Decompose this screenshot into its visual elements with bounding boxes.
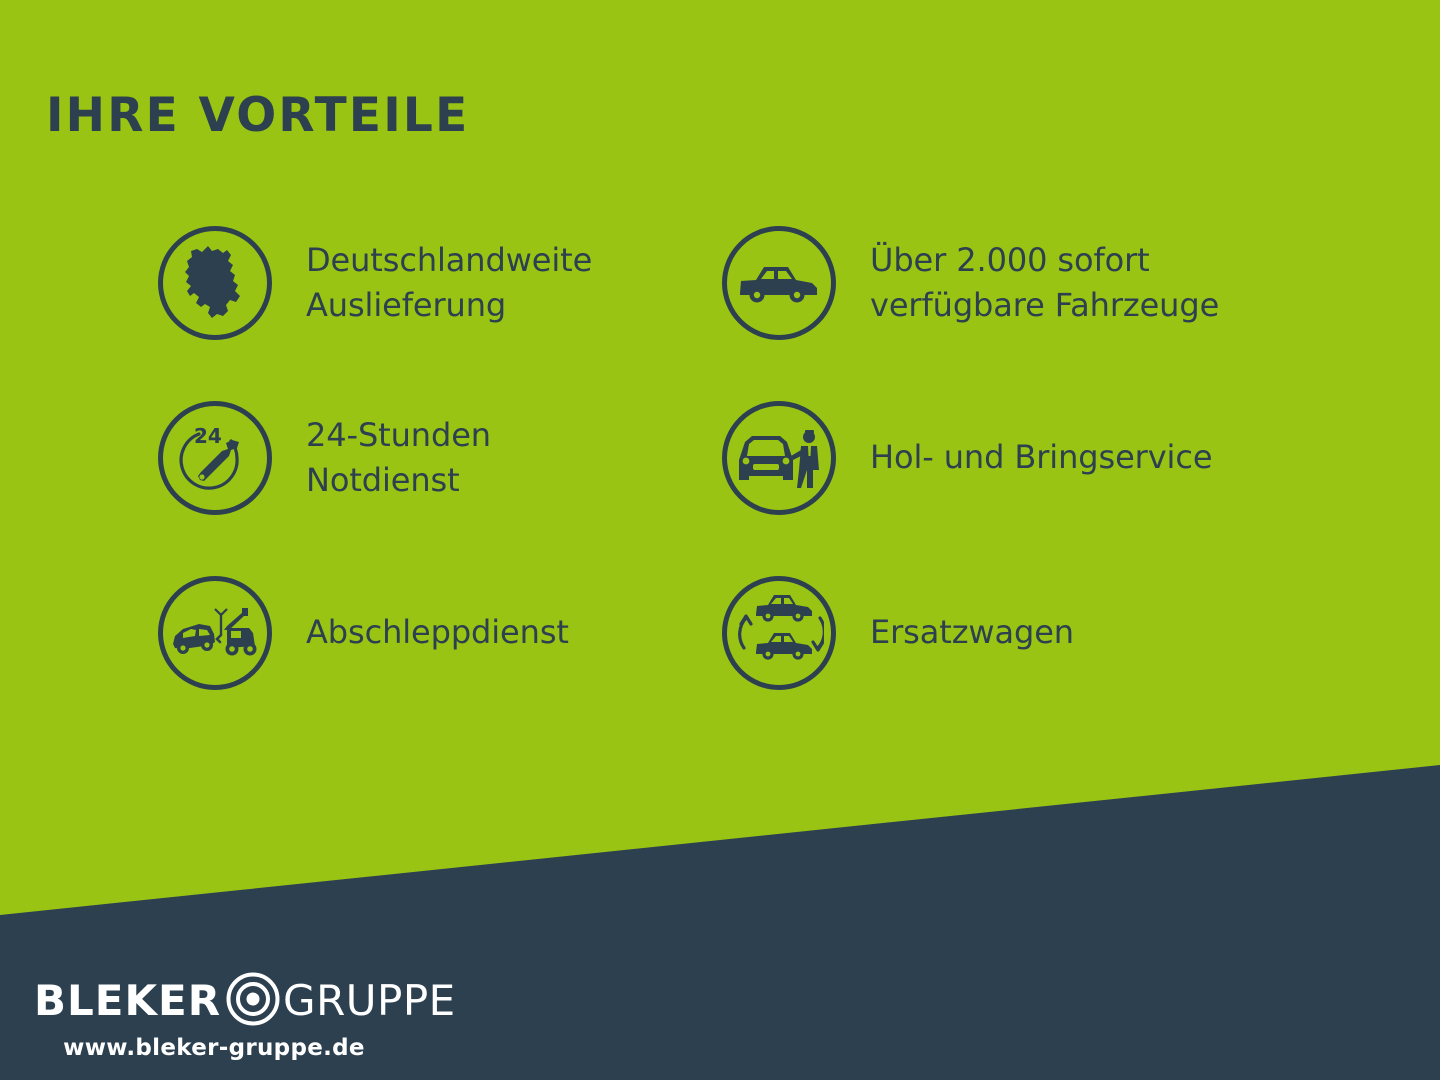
benefit-item: Abschleppdienst <box>158 572 569 694</box>
germany-map-icon <box>158 226 272 340</box>
logo-word-gruppe: GRUPPE <box>283 980 456 1022</box>
benefit-label: Deutschlandweite Auslieferung <box>306 238 592 329</box>
car-side-icon <box>722 226 836 340</box>
logo-word-bleker: BLEKER <box>34 980 221 1022</box>
car-with-person-icon <box>722 401 836 515</box>
benefit-item: Hol- und Bringservice <box>722 397 1212 519</box>
concentric-circles-icon <box>225 971 281 1031</box>
24-hour-wrench-icon: 24 <box>158 401 272 515</box>
benefit-label: Abschleppdienst <box>306 610 569 655</box>
icon-text-24: 24 <box>194 424 222 448</box>
benefit-item: Ersatzwagen <box>722 572 1074 694</box>
benefit-label: Hol- und Bringservice <box>870 435 1212 480</box>
two-cars-exchange-icon <box>722 576 836 690</box>
page-title: IHRE VORTEILE <box>46 88 469 143</box>
benefit-label: 24-Stunden Notdienst <box>306 413 491 504</box>
logo-url[interactable]: www.bleker-gruppe.de <box>34 1035 394 1061</box>
benefit-item: 24 24-Stunden Notdienst <box>158 397 491 519</box>
slide-canvas: IHRE VORTEILE Deutschlandweite Ausliefer… <box>0 0 1440 1080</box>
benefit-item: Deutschlandweite Auslieferung <box>158 222 592 344</box>
benefit-label: Ersatzwagen <box>870 610 1074 655</box>
benefit-item: Über 2.000 sofort verfügbare Fahrzeuge <box>722 222 1219 344</box>
green-diagonal-panel <box>0 0 1440 1080</box>
benefit-label: Über 2.000 sofort verfügbare Fahrzeuge <box>870 238 1219 329</box>
tow-truck-icon <box>158 576 272 690</box>
logo[interactable]: BLEKER GRUPPE www.bleker-gruppe.de <box>34 975 456 1061</box>
logo-wordmark: BLEKER GRUPPE <box>34 975 456 1027</box>
